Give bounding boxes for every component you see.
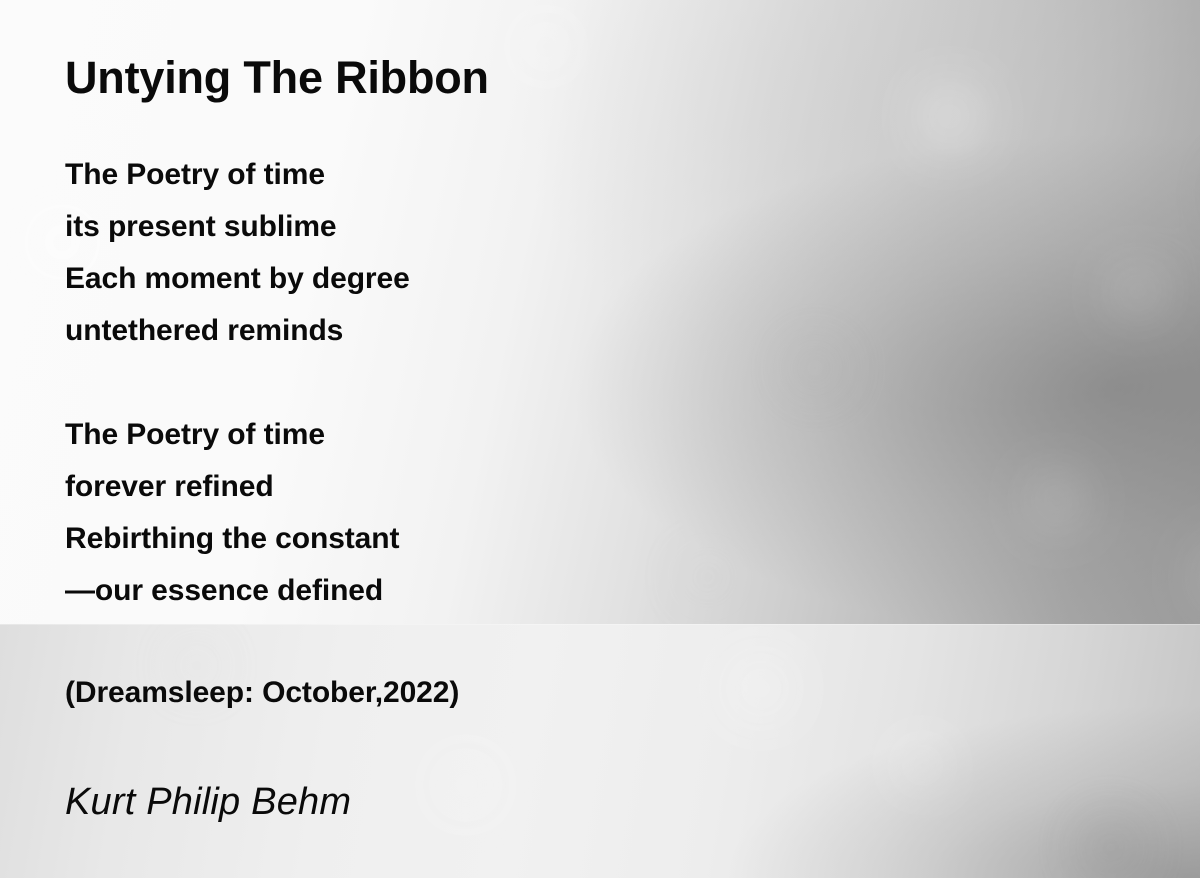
poem-line: The Poetry of time: [65, 418, 325, 452]
poem-text-layer: Untying The Ribbon The Poetry of time it…: [0, 0, 1200, 878]
poem-line: The Poetry of time: [65, 158, 325, 192]
poem-line: its present sublime: [65, 210, 337, 244]
poem-line: —our essence defined: [65, 574, 383, 608]
poem-attribution: (Dreamsleep: October,2022): [65, 676, 459, 710]
poem-line: untethered reminds: [65, 314, 343, 348]
poem-title: Untying The Ribbon: [65, 52, 489, 104]
poem-line: Each moment by degree: [65, 262, 410, 296]
poem-author-signature: Kurt Philip Behm: [65, 781, 351, 824]
poem-line: forever refined: [65, 470, 274, 504]
poem-image-card: Untying The Ribbon The Poetry of time it…: [0, 0, 1200, 878]
poem-line: Rebirthing the constant: [65, 522, 399, 556]
